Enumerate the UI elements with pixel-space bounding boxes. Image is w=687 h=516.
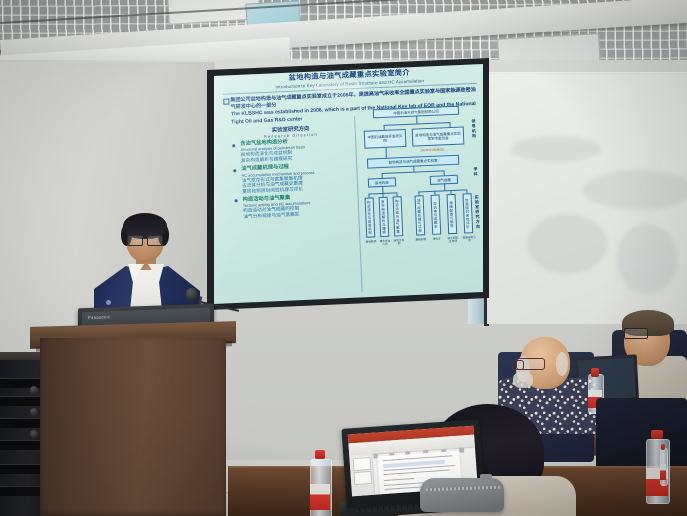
chair <box>596 398 687 474</box>
water-bottle[interactable] <box>660 444 666 484</box>
audience-hair <box>556 352 568 376</box>
org-chart: 中国石油天然气集团有限公司 中国石油勘探开发研究院 盆地构造与油气成藏重点实验室… <box>359 105 485 292</box>
bullet-dot-icon <box>235 200 238 203</box>
audience-beard <box>513 372 533 388</box>
org-leaf: 油气成藏机理与过程 <box>415 195 426 235</box>
microphone-icon <box>186 288 197 301</box>
org-note: 2006年正式挂牌成立 <box>421 147 445 152</box>
org-leaf: 古流体与成藏史 <box>431 195 442 235</box>
pencil-case[interactable] <box>420 478 504 512</box>
research-direction-item: 含油气盆地构造分析 Structural analysis of petrole… <box>231 136 352 164</box>
research-direction-list: 含油气盆地构造分析 Structural analysis of petrole… <box>231 136 354 222</box>
org-leaf: 源储配置与输导 <box>447 194 458 234</box>
research-direction-item: 构造活动与油气聚集 Tectonic activity and HC accum… <box>233 192 354 220</box>
org-box-committee: 盆地构造与油气成藏重点实验室学术委员会 <box>412 126 465 146</box>
org-leaf-caption: 高级职称 <box>364 240 377 244</box>
org-leaf-caption: 研究生导师 <box>392 239 405 246</box>
conference-photo: 盆地构造与油气成藏重点实验室简介 Introduction to Key Lab… <box>0 0 687 516</box>
org-leaf: 构造演化与成盆机制 <box>365 197 376 237</box>
research-direction-item: 油气成藏机理与过程 HC accumulation mechanism and … <box>232 161 353 194</box>
bullet-dot-icon <box>233 169 236 172</box>
org-leaf-caption: 博士生 <box>430 237 443 241</box>
whiteboard <box>487 74 687 324</box>
org-leaf: 封盖层封闭性评价 <box>463 193 474 233</box>
presenter-badge <box>106 300 111 305</box>
projection-screen: 盆地构造与油气成藏重点实验室简介 Introduction to Key Lab… <box>204 58 494 313</box>
org-side-label-leadership: 领导机构 <box>470 119 477 139</box>
org-leaf-caption: 硕士研究生导师 <box>446 237 459 244</box>
pencil-case-handle[interactable] <box>480 474 492 483</box>
slide-content: 盆地构造与油气成藏重点实验室简介 Introduction to Key Lab… <box>216 59 492 298</box>
glasses-icon <box>624 328 648 339</box>
podium-monitor-brand: Panasonic <box>88 314 110 320</box>
org-leaf-caption: 高级职称 <box>414 238 427 242</box>
document-nav-pane <box>349 454 375 497</box>
bullet-square-icon <box>223 98 229 104</box>
water-bottle[interactable] <box>310 450 330 516</box>
org-leaf: 构造活动与油气聚集 <box>393 196 404 236</box>
org-box-institute: 中国石油勘探开发研究院 <box>364 129 407 149</box>
glasses-icon <box>512 360 524 370</box>
org-leaf-caption: 博士学位人员 <box>378 240 391 247</box>
org-side-label-discipline: 学科 <box>472 167 478 177</box>
org-leaf: 复杂构造解析与建模 <box>379 197 390 237</box>
glasses-icon <box>127 235 163 244</box>
podium <box>40 338 226 516</box>
org-leaf-caption: 客座研究人员 <box>462 236 476 243</box>
bullet-dot-icon <box>232 144 235 147</box>
org-side-label-directions: 实验室研究方向 <box>474 195 481 230</box>
